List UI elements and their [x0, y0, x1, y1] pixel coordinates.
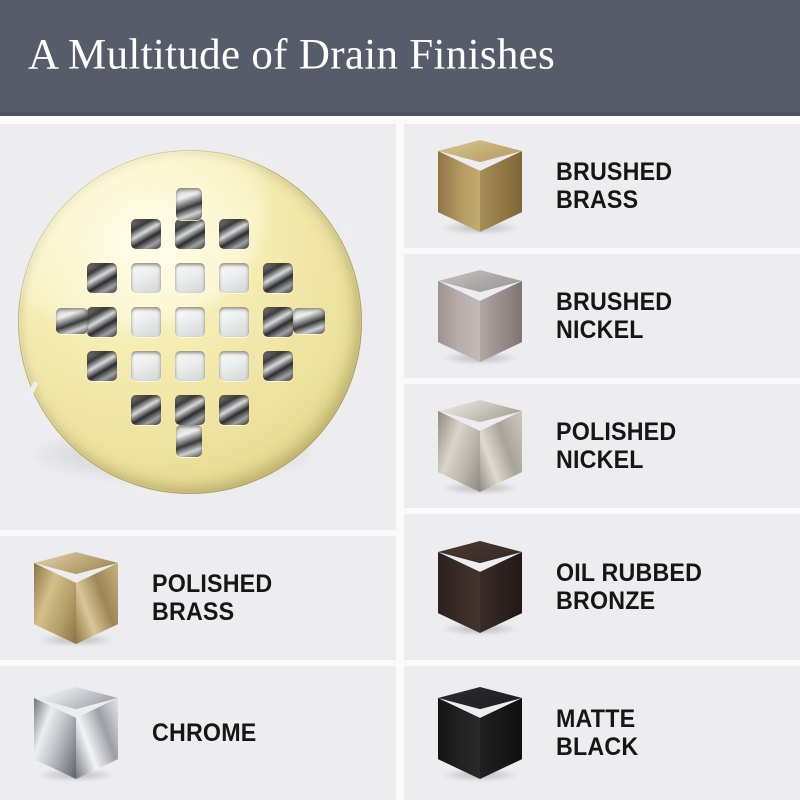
cube-right-face: [76, 563, 118, 644]
hero-image-wrap: [0, 124, 396, 530]
finish-label: POLISHED BRASS: [152, 570, 272, 627]
finish-row-polished-nickel[interactable]: POLISHED NICKEL: [404, 384, 800, 508]
isometric-cube-icon: [438, 400, 522, 492]
drain-slot-west: [56, 308, 88, 334]
drain-hole: [87, 351, 117, 381]
cube-left-face: [438, 552, 480, 633]
drain-hole: [219, 351, 249, 381]
finish-label-line1: BRUSHED: [556, 158, 672, 186]
drain-hole: [219, 307, 249, 337]
drain-finishes-infographic: A Multitude of Drain Finishes: [0, 0, 800, 800]
cube-right-face: [480, 151, 522, 232]
cube-left-face: [34, 563, 76, 644]
swatch-slot: [404, 514, 556, 660]
drain-hole: [263, 307, 293, 337]
cube-left-face: [438, 411, 480, 492]
finish-label-line2: NICKEL: [556, 446, 676, 475]
finish-label-line2: BRASS: [556, 186, 672, 215]
finish-label-line2: NICKEL: [556, 316, 672, 345]
finish-label: OIL RUBBED BRONZE: [556, 559, 702, 616]
finish-row-chrome[interactable]: CHROME: [0, 666, 396, 800]
drain-edge-notch: [339, 222, 348, 239]
header-bar: A Multitude of Drain Finishes: [0, 0, 800, 116]
finish-label-line1: CHROME: [152, 719, 256, 747]
drain-hole: [131, 307, 161, 337]
cube-right-face: [480, 411, 522, 492]
swatch-slot: [404, 384, 556, 508]
swatch-slot: [0, 536, 152, 660]
swatch-slot: [404, 666, 556, 800]
swatch-slot: [404, 254, 556, 378]
finish-row-brushed-brass[interactable]: BRUSHED BRASS: [404, 124, 800, 248]
isometric-cube-icon: [34, 687, 118, 779]
finish-label: CHROME: [152, 719, 256, 748]
drain-hole: [131, 219, 161, 249]
drain-hole: [131, 351, 161, 381]
drain-hole: [219, 219, 249, 249]
shower-drain-grate-image: [18, 150, 362, 494]
finish-label: BRUSHED BRASS: [556, 158, 672, 215]
drain-hole: [131, 263, 161, 293]
isometric-cube-icon: [438, 140, 522, 232]
drain-grate-grid: [86, 218, 294, 426]
cube-left-face: [438, 698, 480, 779]
drain-hole: [87, 263, 117, 293]
drain-hole: [175, 219, 205, 249]
drain-slot-east: [293, 308, 325, 334]
drain-hole: [175, 351, 205, 381]
cube-left-face: [438, 151, 480, 232]
finish-label: BRUSHED NICKEL: [556, 288, 672, 345]
hero-product-panel: [0, 124, 396, 530]
cube-left-face: [438, 281, 480, 362]
drain-hole: [263, 351, 293, 381]
drain-slot-north: [176, 188, 202, 220]
finish-row-matte-black[interactable]: MATTE BLACK: [404, 666, 800, 800]
drain-hole: [175, 307, 205, 337]
isometric-cube-icon: [438, 541, 522, 633]
finish-label: MATTE BLACK: [556, 705, 638, 762]
drain-hole: [263, 263, 293, 293]
finish-row-oil-rubbed-bronze[interactable]: OIL RUBBED BRONZE: [404, 514, 800, 660]
finish-label-line2: BRASS: [152, 598, 272, 627]
page-title: A Multitude of Drain Finishes: [28, 34, 555, 77]
cube-right-face: [480, 698, 522, 779]
finish-panel-grid: POLISHED BRASS CHROME: [0, 124, 800, 800]
cube-right-face: [76, 698, 118, 779]
finish-label-line1: POLISHED: [152, 570, 272, 598]
finish-label-line1: BRUSHED: [556, 288, 672, 316]
drain-hole: [175, 395, 205, 425]
finish-label: POLISHED NICKEL: [556, 418, 676, 475]
swatch-slot: [0, 666, 152, 800]
drain-slot-south: [176, 425, 202, 457]
drain-hole: [175, 263, 205, 293]
drain-hole: [87, 307, 117, 337]
isometric-cube-icon: [34, 552, 118, 644]
finish-label-line2: BRONZE: [556, 587, 702, 616]
finish-row-brushed-nickel[interactable]: BRUSHED NICKEL: [404, 254, 800, 378]
drain-hole: [219, 263, 249, 293]
finish-label-line1: POLISHED: [556, 418, 676, 446]
drain-hole: [219, 395, 249, 425]
isometric-cube-icon: [438, 270, 522, 362]
isometric-cube-icon: [438, 687, 522, 779]
finish-label-line1: MATTE: [556, 705, 635, 733]
drain-hole: [131, 395, 161, 425]
swatch-slot: [404, 124, 556, 248]
finish-label-line2: BLACK: [556, 733, 638, 762]
cube-right-face: [480, 552, 522, 633]
cube-right-face: [480, 281, 522, 362]
finish-label-line1: OIL RUBBED: [556, 559, 702, 587]
cube-left-face: [34, 698, 76, 779]
finish-row-polished-brass[interactable]: POLISHED BRASS: [0, 536, 396, 660]
